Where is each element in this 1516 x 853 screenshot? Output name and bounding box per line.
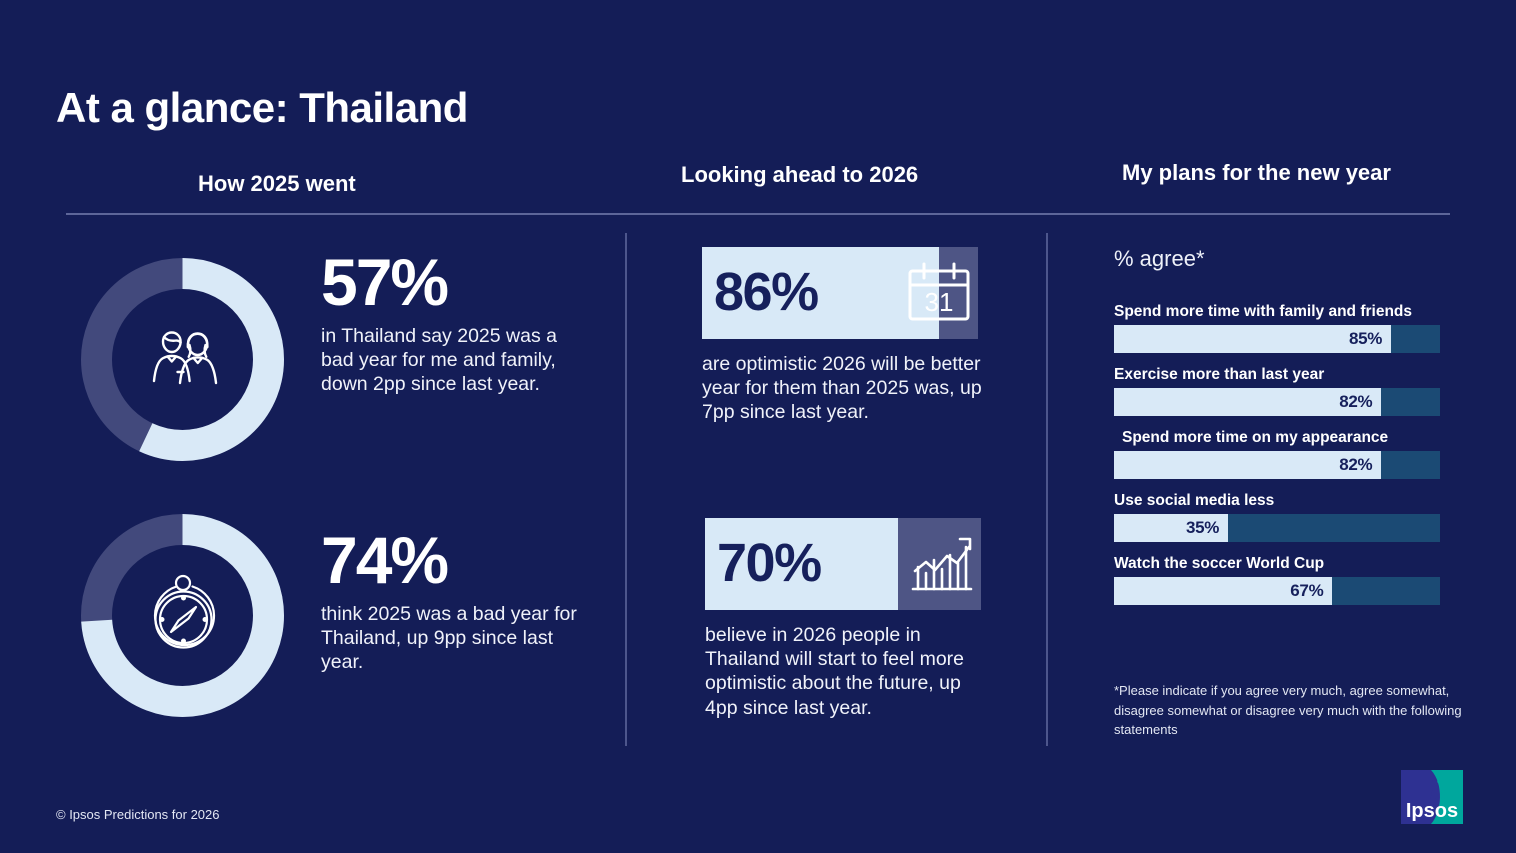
donut-chart-block-1	[80, 257, 285, 462]
column-header-my-plans: My plans for the new year	[1122, 160, 1391, 186]
bar-row: Exercise more than last year 82%	[1114, 366, 1440, 416]
two-people-icon	[80, 257, 285, 462]
stat-block-74: 74% think 2025 was a bad year for Thaila…	[321, 530, 591, 674]
bar-value: 82%	[1339, 392, 1381, 412]
copyright-text: © Ipsos Predictions for 2026	[56, 807, 220, 822]
ipsos-logo: Ipsos	[1398, 766, 1466, 828]
bar-track: 85%	[1114, 325, 1440, 353]
bar-value: 82%	[1339, 455, 1381, 475]
column-divider-right	[1046, 233, 1048, 746]
bar-fill: 35%	[1114, 514, 1228, 542]
calendar-day-number: 31	[925, 287, 954, 317]
panel-bar-70: 70%	[705, 518, 981, 610]
logo-wordmark: Ipsos	[1406, 800, 1458, 822]
column-header-looking-ahead: Looking ahead to 2026	[681, 162, 918, 188]
bar-value: 85%	[1349, 329, 1391, 349]
panel-value-70: 70%	[717, 536, 821, 590]
agree-heading: % agree*	[1114, 246, 1205, 272]
stat-value-57: 57%	[321, 252, 591, 313]
bar-track: 82%	[1114, 388, 1440, 416]
stat-description-74: think 2025 was a bad year for Thailand, …	[321, 602, 591, 675]
column-header-how-2025-went: How 2025 went	[198, 171, 356, 197]
donut-chart-57	[80, 257, 285, 462]
bar-label: Watch the soccer World Cup	[1114, 555, 1440, 573]
growth-chart-icon	[905, 527, 979, 601]
bar-row: Use social media less 35%	[1114, 492, 1440, 542]
infographic-canvas: At a glance: Thailand How 2025 went Look…	[0, 0, 1516, 853]
stat-block-57: 57% in Thailand say 2025 was a bad year …	[321, 252, 591, 396]
bar-fill: 67%	[1114, 577, 1332, 605]
bar-row: Watch the soccer World Cup 67%	[1114, 555, 1440, 605]
panel-value-86: 86%	[714, 265, 818, 319]
bar-fill: 82%	[1114, 451, 1381, 479]
bar-label: Use social media less	[1114, 492, 1440, 510]
panel-block-86: 86% 31 are optimistic 2026 will be bette…	[702, 247, 988, 425]
bar-value: 67%	[1290, 581, 1332, 601]
agree-footnote: *Please indicate if you agree very much,…	[1114, 681, 1474, 740]
bar-fill: 85%	[1114, 325, 1391, 353]
header-divider-rule	[66, 213, 1450, 215]
panel-description-70: believe in 2026 people in Thailand will …	[705, 623, 997, 720]
panel-bar-86: 86% 31	[702, 247, 978, 339]
panel-description-86: are optimistic 2026 will be better year …	[702, 352, 988, 425]
bar-row: Spend more time on my appearance 82%	[1114, 429, 1440, 479]
plans-bar-chart: Spend more time with family and friends …	[1114, 303, 1440, 605]
page-title: At a glance: Thailand	[56, 84, 468, 132]
stat-description-57: in Thailand say 2025 was a bad year for …	[321, 324, 591, 397]
panel-block-70: 70% believe in 2026 people in Thailand w…	[705, 518, 997, 720]
stat-value-74: 74%	[321, 530, 591, 591]
donut-chart-74	[80, 513, 285, 718]
bar-label: Spend more time on my appearance	[1114, 429, 1440, 447]
bar-label: Spend more time with family and friends	[1114, 303, 1440, 321]
bar-track: 67%	[1114, 577, 1440, 605]
bar-value: 35%	[1186, 518, 1228, 538]
calendar-31-icon: 31	[902, 256, 976, 330]
bar-label: Exercise more than last year	[1114, 366, 1440, 384]
bar-fill: 82%	[1114, 388, 1381, 416]
bar-row: Spend more time with family and friends …	[1114, 303, 1440, 353]
compass-icon	[80, 513, 285, 718]
bar-track: 82%	[1114, 451, 1440, 479]
column-divider-left	[625, 233, 627, 746]
bar-track: 35%	[1114, 514, 1440, 542]
donut-chart-block-2	[80, 513, 285, 718]
